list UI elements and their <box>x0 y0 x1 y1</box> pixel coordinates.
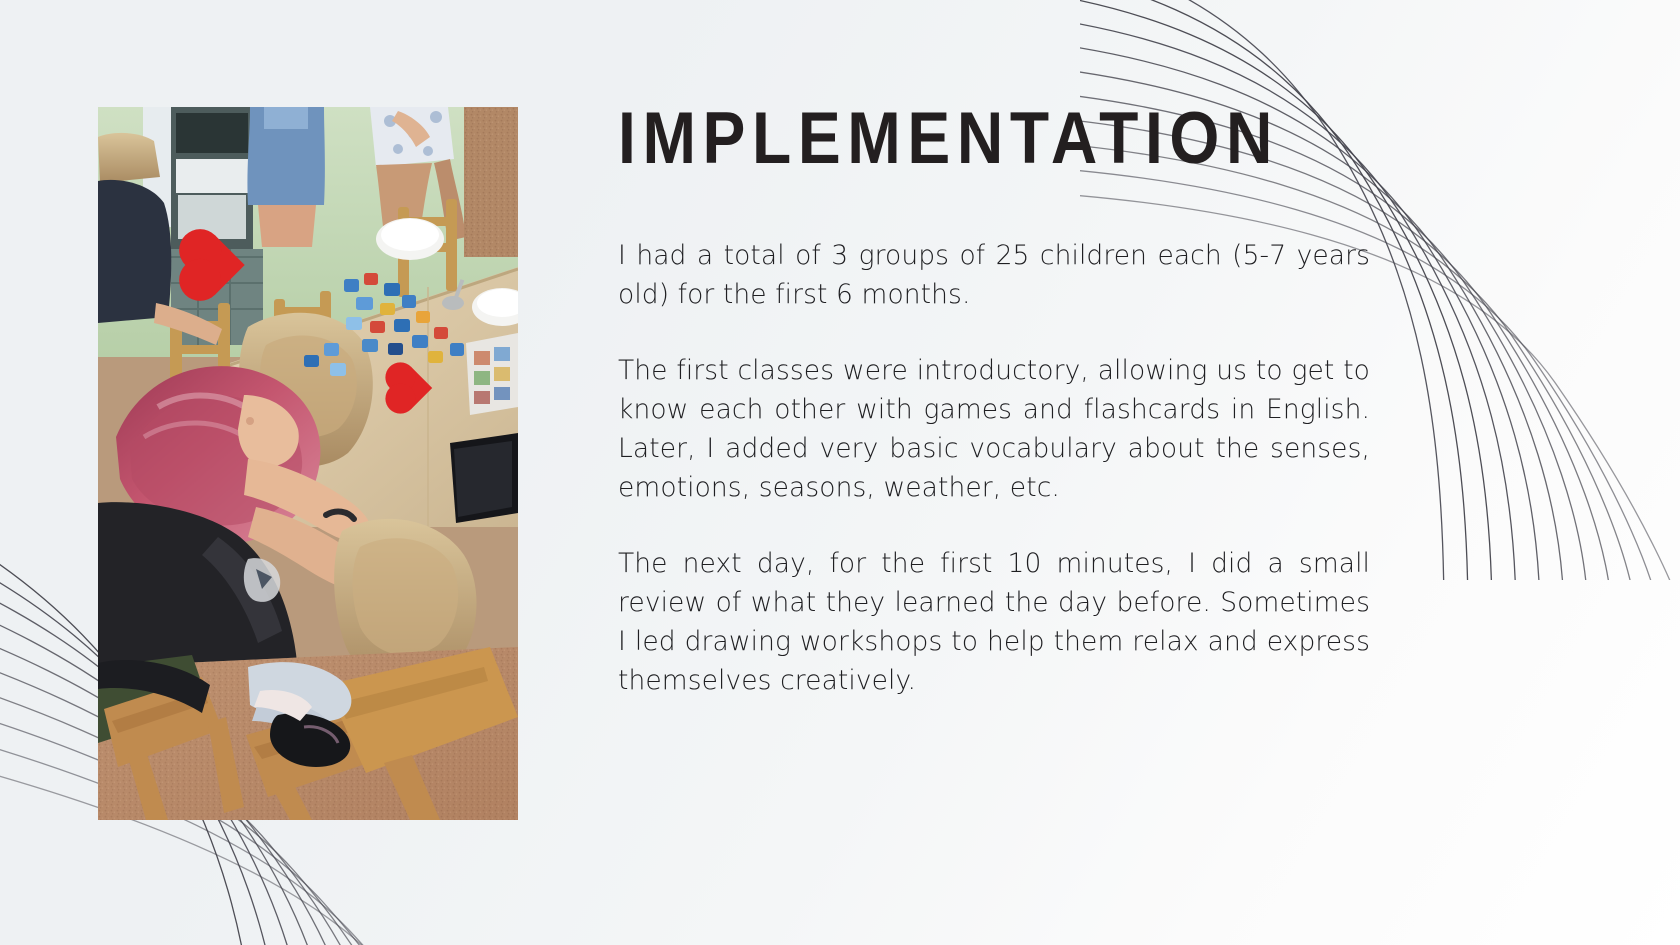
slide-canvas: IMPLEMENTATION I had a total of 3 groups… <box>0 0 1680 945</box>
body-paragraph-2: The first classes were introductory, all… <box>618 351 1370 507</box>
body-copy: I had a total of 3 groups of 25 children… <box>618 236 1370 700</box>
text-column: IMPLEMENTATION I had a total of 3 groups… <box>618 104 1370 700</box>
body-paragraph-3: The next day, for the first 10 minutes, … <box>618 544 1370 700</box>
classroom-photo <box>98 107 518 820</box>
photo-artwork <box>98 107 518 820</box>
body-paragraph-1: I had a total of 3 groups of 25 children… <box>618 236 1370 314</box>
page-title: IMPLEMENTATION <box>618 104 1280 174</box>
